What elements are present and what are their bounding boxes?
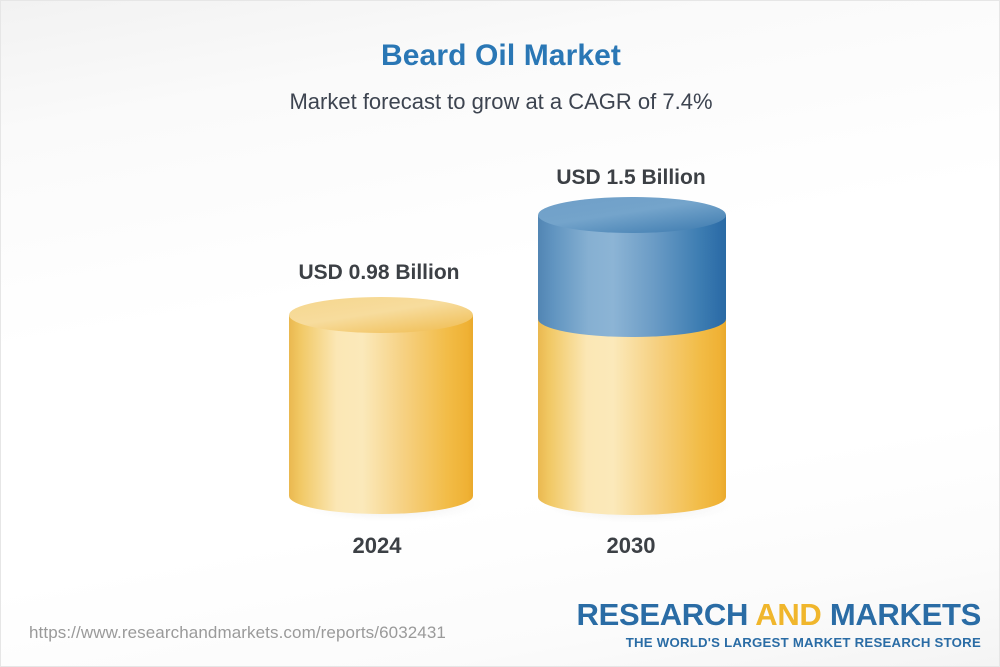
value-label-2030: USD 1.5 Billion [531,166,731,190]
logo-tagline: THE WORLD'S LARGEST MARKET RESEARCH STOR… [577,636,982,649]
category-label-2024: 2024 [279,533,475,559]
cylinder-top-cap [289,297,473,333]
logo-research-text: RESEARCH [577,597,756,632]
research-and-markets-logo[interactable]: RESEARCH AND MARKETS THE WORLD'S LARGEST… [577,599,982,649]
cylinder-body-growth [538,215,726,337]
logo-and-text: AND [755,597,821,632]
plot-area: USD 0.98 Billion [1,1,1000,601]
cylinder-body-base [538,319,726,515]
logo-markets-text: MARKETS [822,597,982,632]
cylinder-top-cap [538,197,726,233]
cylinder-body [289,315,473,514]
report-url[interactable]: https://www.researchandmarkets.com/repor… [29,623,446,643]
value-label-2024: USD 0.98 Billion [279,261,479,285]
cylinder-2030[interactable] [532,197,732,527]
cylinder-2024[interactable] [283,297,479,527]
logo-wordmark: RESEARCH AND MARKETS [577,599,982,630]
category-label-2030: 2030 [531,533,731,559]
chart-canvas: Beard Oil Market Market forecast to grow… [0,0,1000,667]
